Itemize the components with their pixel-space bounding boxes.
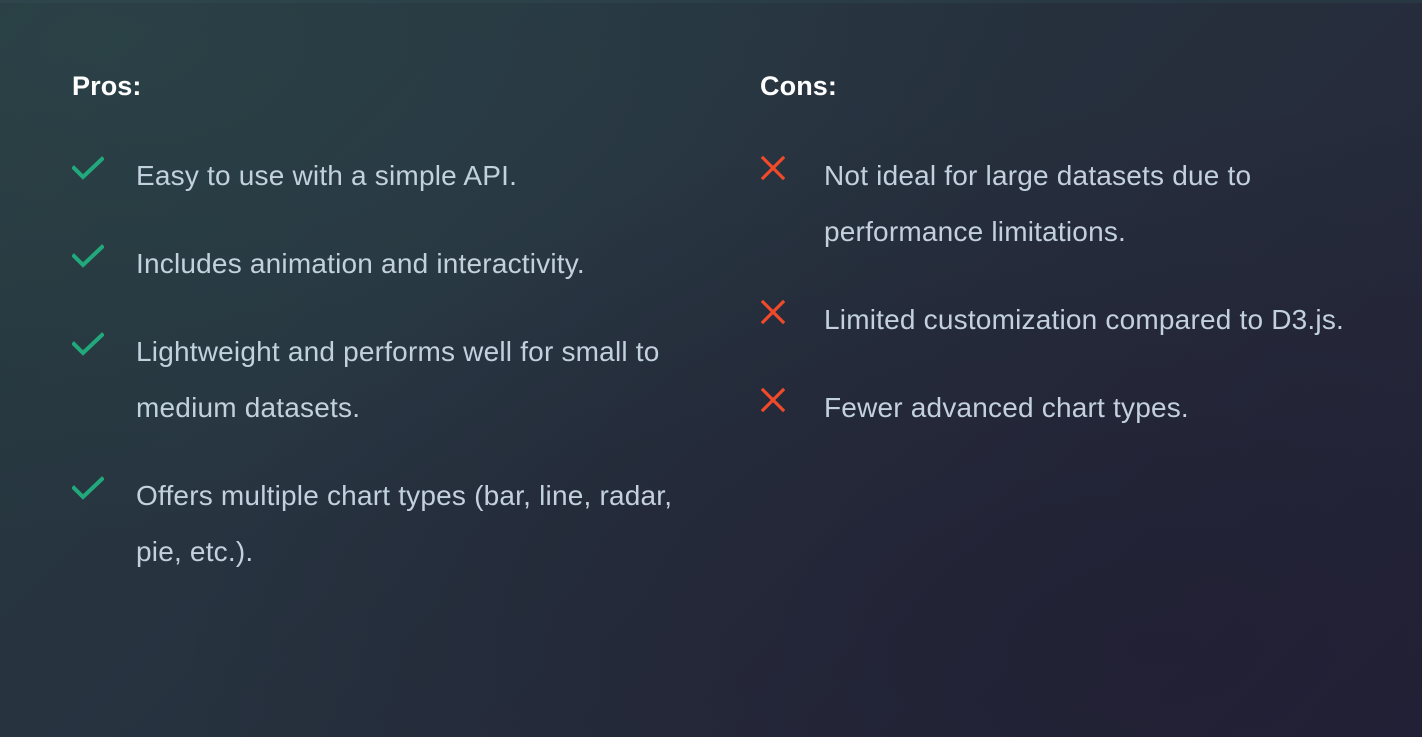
check-icon (72, 236, 108, 276)
list-item-text: Not ideal for large datasets due to perf… (824, 148, 1404, 260)
list-item: Limited customization compared to D3.js. (760, 292, 1422, 348)
check-icon (72, 324, 108, 364)
check-icon (72, 148, 108, 188)
list-item-text: Includes animation and interactivity. (136, 236, 585, 292)
list-item: Not ideal for large datasets due to perf… (760, 148, 1422, 260)
list-item-text: Fewer advanced chart types. (824, 380, 1189, 436)
list-item: Easy to use with a simple API. (72, 148, 760, 204)
list-item-text: Limited customization compared to D3.js. (824, 292, 1344, 348)
list-item: Fewer advanced chart types. (760, 380, 1422, 436)
list-item: Lightweight and performs well for small … (72, 324, 760, 436)
cross-icon (760, 292, 796, 332)
pros-column: Pros: Easy to use with a simple API. (72, 72, 760, 737)
cons-heading: Cons: (760, 72, 1422, 102)
cons-list: Not ideal for large datasets due to perf… (760, 148, 1422, 436)
list-item: Includes animation and interactivity. (72, 236, 760, 292)
list-item-text: Offers multiple chart types (bar, line, … (136, 468, 696, 580)
two-column-layout: Pros: Easy to use with a simple API. (0, 0, 1422, 737)
cross-icon (760, 380, 796, 420)
cross-icon (760, 148, 796, 188)
pros-list: Easy to use with a simple API. Includes … (72, 148, 760, 580)
cons-column: Cons: Not ideal for large datasets due t… (760, 72, 1422, 737)
slide-canvas: Pros: Easy to use with a simple API. (0, 0, 1422, 737)
list-item-text: Lightweight and performs well for small … (136, 324, 696, 436)
list-item-text: Easy to use with a simple API. (136, 148, 517, 204)
check-icon (72, 468, 108, 508)
pros-heading: Pros: (72, 72, 760, 102)
list-item: Offers multiple chart types (bar, line, … (72, 468, 760, 580)
